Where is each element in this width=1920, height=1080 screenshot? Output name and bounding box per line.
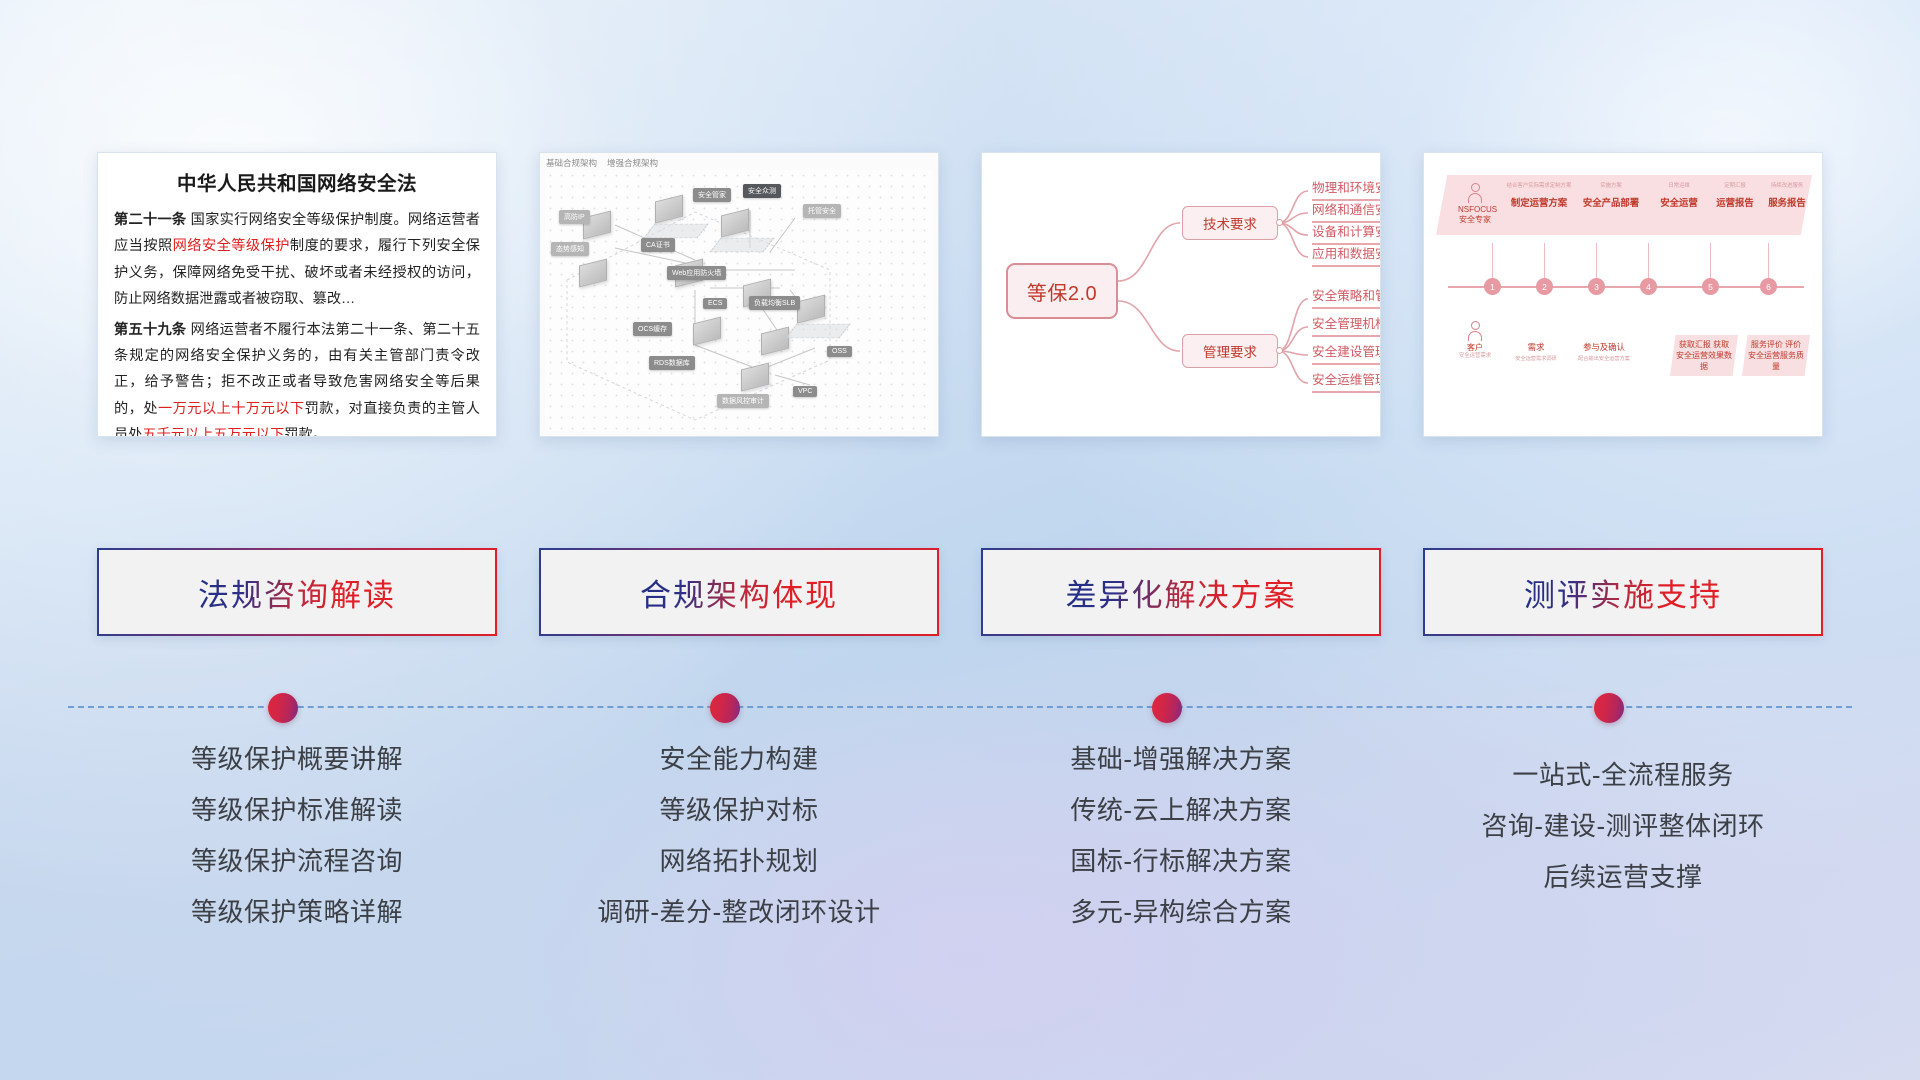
arch-node-fengkong: 数据风控审计 <box>717 394 769 408</box>
arch-node-rds: RDS数据库 <box>649 356 695 370</box>
nsfocus-stem-4 <box>1648 243 1649 279</box>
mindmap-leaf-t1: 物理和环境安全 <box>1312 177 1381 201</box>
column-2-item-2: 等级保护对标 <box>539 797 939 823</box>
mindmap-branch-technical: 技术要求 <box>1182 206 1278 240</box>
plate-2 <box>709 238 774 252</box>
column-1: 等级保护概要讲解 等级保护标准解读 等级保护流程咨询 等级保护策略详解 <box>97 746 497 950</box>
column-1-item-3: 等级保护流程咨询 <box>97 848 497 874</box>
architecture-tabs: 基础合规架构 增强合规架构 <box>546 157 658 169</box>
bottom-rating-title: 服务评价 <box>1751 340 1783 349</box>
architecture-canvas: 高防IP 态势感知 CA证书 安全管家 安全众测 托管安全 Web应用防火墙 E… <box>545 170 933 431</box>
band-title-2: 安全产品部署 <box>1574 195 1648 209</box>
timeline-dot-1[interactable] <box>268 693 298 723</box>
column-4: 一站式-全流程服务 咨询-建设-测评整体闭环 后续运营支撑 <box>1423 746 1823 950</box>
arch-node-tuoguananquan: 托管安全 <box>803 204 841 218</box>
column-3-item-2: 传统-云上解决方案 <box>981 797 1381 823</box>
mindmap-leaf-m2: 安全管理机构和人员 <box>1312 313 1381 337</box>
column-3-item-3: 国标-行标解决方案 <box>981 848 1381 874</box>
column-4-item-2: 咨询-建设-测评整体闭环 <box>1423 813 1823 839</box>
architecture-diagram: 基础合规架构 增强合规架构 <box>540 153 938 436</box>
heading-row: 法规咨询解读 合规架构体现 差异化解决方案 测评实施支持 <box>0 548 1920 636</box>
bottom-need-caption: 安全运营需求调研 <box>1510 355 1562 362</box>
column-2-item-3: 网络拓扑规划 <box>539 848 939 874</box>
mindmap-dot-management <box>1276 347 1283 354</box>
architecture-tab-enhanced[interactable]: 增强合规架构 <box>607 157 658 169</box>
column-3-item-4: 多元-异构综合方案 <box>981 899 1381 925</box>
bottom-confirm-title: 参与及确认 <box>1583 342 1625 352</box>
plate-3 <box>785 324 850 338</box>
nsfocus-expert: NSFOCUS 安全专家 <box>1458 183 1492 226</box>
timeline-dot-4[interactable] <box>1594 693 1624 723</box>
nsfocus-bottom-need: 需求 安全运营需求调研 <box>1510 341 1562 362</box>
nsfocus-stem-3 <box>1596 243 1597 279</box>
arch-node-cazhengshu: CA证书 <box>641 238 675 252</box>
nsfocus-stem-5 <box>1710 243 1711 279</box>
heading-box-2[interactable]: 合规架构体现 <box>539 548 939 636</box>
nsfocus-stem-1 <box>1492 243 1493 279</box>
mindmap-leaf-t2: 网络和通信安全 <box>1312 199 1381 223</box>
card-architecture: 基础合规架构 增强合规架构 <box>539 152 939 437</box>
nsfocus-step-1: 1 <box>1484 278 1501 295</box>
nsfocus-step-3: 3 <box>1588 278 1605 295</box>
arch-node-slb: 负载均衡SLB <box>749 296 800 310</box>
column-2-item-1: 安全能力构建 <box>539 746 939 772</box>
column-1-item-1: 等级保护概要讲解 <box>97 746 497 772</box>
heading-label-3: 差异化解决方案 <box>1066 570 1297 615</box>
mindmap-dot-technical <box>1276 219 1283 226</box>
band-title-1: 制定运营方案 <box>1502 195 1576 209</box>
law-paragraph-1: 第二十一条 国家实行网络安全等级保护制度。网络运营者应当按照网络安全等级保护制度… <box>114 207 480 313</box>
law-body: 中华人民共和国网络安全法 第二十一条 国家实行网络安全等级保护制度。网络运营者应… <box>98 153 496 437</box>
heading-box-4[interactable]: 测评实施支持 <box>1423 548 1823 636</box>
plate-1 <box>643 224 708 238</box>
column-3-item-1: 基础-增强解决方案 <box>981 746 1381 772</box>
timeline-dot-2[interactable] <box>710 693 740 723</box>
nsfocus-band-item-1: 结合客户实际需求定制方案 制定运营方案 <box>1502 183 1576 209</box>
mindmap-leaf-t4: 应用和数据安全 <box>1312 243 1381 267</box>
person-icon <box>1471 183 1480 192</box>
customer-caption: 安全运营需求 <box>1458 353 1492 360</box>
arch-node-anquanzhongce: 安全众测 <box>743 184 781 198</box>
card-nsfocus: NSFOCUS 安全专家 结合客户实际需求定制方案 制定运营方案 实施方案 安全… <box>1423 152 1823 437</box>
nsfocus-diagram: NSFOCUS 安全专家 结合客户实际需求定制方案 制定运营方案 实施方案 安全… <box>1424 153 1822 436</box>
nsfocus-bottom-report: 获取汇报 获取安全运营效果数据 <box>1670 335 1738 376</box>
arch-node-oss: OSS <box>827 346 852 357</box>
law-paragraph-2: 第五十九条 网络运营者不履行本法第二十一条、第二十五条规定的网络安全保护义务的，… <box>114 317 480 437</box>
law-article-2: 第五十九条 <box>114 322 186 338</box>
column-4-item-3: 后续运营支撑 <box>1423 864 1823 890</box>
nsfocus-stem-2 <box>1544 243 1545 279</box>
heading-label-1: 法规咨询解读 <box>198 570 396 615</box>
mindmap-leaf-t3: 设备和计算安全 <box>1312 221 1381 245</box>
nsfocus-brand-sub: 安全专家 <box>1458 215 1492 225</box>
bottom-need-title: 需求 <box>1528 342 1545 352</box>
arch-node-anquanguanjia: 安全管家 <box>693 188 731 202</box>
mindmap: 等保2.0 技术要求 管理要求 物理和环境安全 网络和通信安全 设备和计算安全 … <box>982 153 1380 436</box>
nsfocus-bottom-rating: 服务评价 评价安全运营服务质量 <box>1742 335 1810 376</box>
slide-stage: 中华人民共和国网络安全法 第二十一条 国家实行网络安全等级保护制度。网络运营者应… <box>0 0 1920 1080</box>
nsfocus-step-5: 5 <box>1702 278 1719 295</box>
nsfocus-step-6: 6 <box>1760 278 1777 295</box>
column-4-item-1: 一站式-全流程服务 <box>1423 762 1823 788</box>
mindmap-leaf-m1: 安全策略和管理制度 <box>1312 285 1381 309</box>
nsfocus-band-item-2: 实施方案 安全产品部署 <box>1574 183 1648 209</box>
column-3: 基础-增强解决方案 传统-云上解决方案 国标-行标解决方案 多元-异构综合方案 <box>981 746 1381 950</box>
arch-node-ocs: OCS缓存 <box>633 322 672 336</box>
column-1-item-4: 等级保护策略详解 <box>97 899 497 925</box>
mindmap-leaf-m4: 安全运维管理 <box>1312 369 1381 393</box>
nsfocus-step-2: 2 <box>1536 278 1553 295</box>
arch-node-webwaf: Web应用防火墙 <box>667 266 726 280</box>
column-row: 等级保护概要讲解 等级保护标准解读 等级保护流程咨询 等级保护策略详解 安全能力… <box>0 746 1920 950</box>
nsfocus-bottom-confirm: 参与及确认 配合输出安全运营方案 <box>1568 341 1640 362</box>
customer-body-icon <box>1468 331 1482 341</box>
band-caption-1: 结合客户实际需求定制方案 <box>1502 183 1576 190</box>
band-caption-2: 实施方案 <box>1574 183 1648 190</box>
timeline-dot-3[interactable] <box>1152 693 1182 723</box>
card-mindmap: 等保2.0 技术要求 管理要求 物理和环境安全 网络和通信安全 设备和计算安全 … <box>981 152 1381 437</box>
law-article-1: 第二十一条 <box>114 212 186 228</box>
nsfocus-stem-6 <box>1768 243 1769 279</box>
customer-icon <box>1471 321 1480 330</box>
nsfocus-step-4: 4 <box>1640 278 1657 295</box>
band-title-5: 服务报告 <box>1750 195 1823 209</box>
law-run-2-3: 五千元以上五万元以下 <box>142 427 284 437</box>
heading-box-1[interactable]: 法规咨询解读 <box>97 548 497 636</box>
heading-label-4: 测评实施支持 <box>1524 570 1722 615</box>
mindmap-leaf-m3: 安全建设管理 <box>1312 341 1381 365</box>
arch-node-taishiganzhi: 态势感知 <box>551 242 589 256</box>
card-row: 中华人民共和国网络安全法 第二十一条 国家实行网络安全等级保护制度。网络运营者应… <box>0 152 1920 437</box>
arch-node-ecs: ECS <box>703 298 727 309</box>
column-2: 安全能力构建 等级保护对标 网络拓扑规划 调研-差分-整改闭环设计 <box>539 746 939 950</box>
heading-label-2: 合规架构体现 <box>640 570 838 615</box>
person-body-icon <box>1468 193 1482 203</box>
customer-title: 客户 <box>1458 343 1492 353</box>
mindmap-branch-management: 管理要求 <box>1182 334 1278 368</box>
arch-node-gaofangip: 高防IP <box>559 210 590 224</box>
architecture-tab-basic[interactable]: 基础合规架构 <box>546 157 597 169</box>
law-run-1-1: 网络安全等级保护 <box>173 238 290 254</box>
mindmap-root: 等保2.0 <box>1006 263 1118 319</box>
law-run-2-1: 一万元以上十万元以下 <box>158 401 305 417</box>
law-run-2-4: 罚款。 <box>284 427 327 437</box>
heading-box-3[interactable]: 差异化解决方案 <box>981 548 1381 636</box>
arch-node-vpc: VPC <box>793 386 817 397</box>
column-1-item-2: 等级保护标准解读 <box>97 797 497 823</box>
timeline-track <box>68 706 1852 708</box>
law-title: 中华人民共和国网络安全法 <box>114 167 480 196</box>
nsfocus-customer: 客户 安全运营需求 <box>1458 321 1492 365</box>
nsfocus-brand: NSFOCUS <box>1458 205 1492 215</box>
band-caption-5: 持续改进服务 <box>1750 183 1823 190</box>
bottom-confirm-caption: 配合输出安全运营方案 <box>1568 355 1640 362</box>
nsfocus-band-item-5: 持续改进服务 服务报告 <box>1750 183 1823 209</box>
column-2-item-4: 调研-差分-整改闭环设计 <box>539 899 939 925</box>
card-law: 中华人民共和国网络安全法 第二十一条 国家实行网络安全等级保护制度。网络运营者应… <box>97 152 497 437</box>
bottom-report-title: 获取汇报 <box>1679 340 1711 349</box>
nsfocus-axis <box>1448 286 1804 288</box>
